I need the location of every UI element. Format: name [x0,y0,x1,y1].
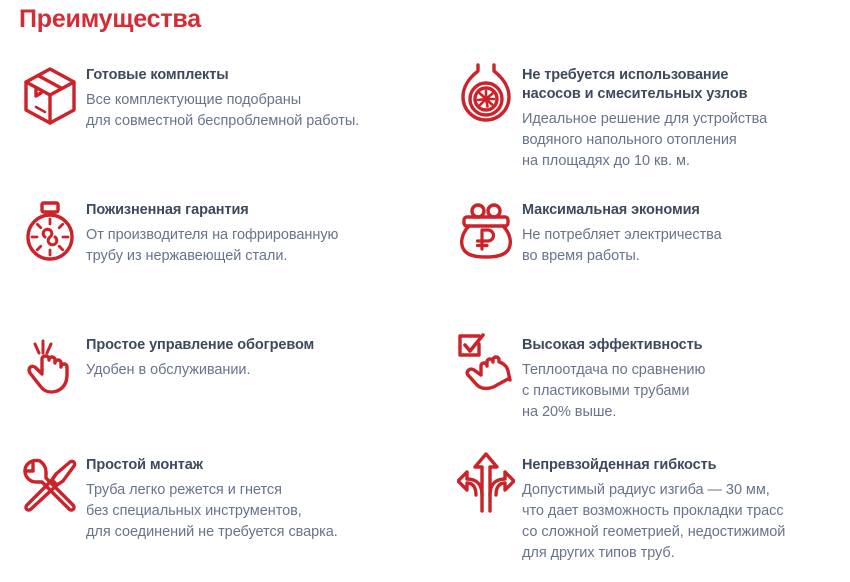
feature-card-flexibility: Непревзойденная гибкость Допустимый ради… [440,442,850,569]
feature-description: Не потребляет электричества во время раб… [522,225,840,267]
feature-title: Готовые комплекты [86,66,430,85]
feature-card-max-savings: Максимальная экономия Не потребляет элек… [440,187,850,322]
feature-card-ready-kits: Готовые комплекты Все комплектующие подо… [0,52,440,187]
box-package-icon [14,60,86,132]
feature-card-no-pumps: Не требуется использование насосов и сме… [440,52,850,187]
feature-card-easy-control: Простое управление обогревом Удобен в об… [0,322,440,442]
feature-title: Максимальная экономия [522,201,840,220]
feature-description: От производителя на гофрированную трубу … [86,225,430,267]
feature-description: Все комплектующие подобраны для совместн… [86,90,430,132]
page-title: Преимущества [19,2,201,36]
feature-description: Удобен в обслуживании. [86,360,430,381]
tap-hand-icon [14,330,86,402]
feature-card-lifetime-warranty: Пожизненная гарантия От производителя на… [0,187,440,322]
feature-text: Максимальная экономия Не потребляет элек… [522,187,840,267]
feature-text: Непревзойденная гибкость Допустимый ради… [522,442,840,564]
feature-title: Непревзойденная гибкость [522,456,840,475]
feature-text: Не требуется использование насосов и сме… [522,52,840,172]
three-way-arrow-icon [450,446,522,518]
feature-description: Теплоотдача по сравнению с пластиковыми … [522,360,840,423]
feature-description: Идеальное решение для устройства водяног… [522,109,840,172]
feature-description: Допустимый радиус изгиба — 30 мм, что да… [522,480,840,564]
stopwatch-infinity-icon [14,195,86,267]
advantages-section: Преимущества Готовые комплекты Все компл… [0,0,850,582]
feature-title: Простой монтаж [86,456,430,475]
feature-card-easy-installation: Простой монтаж Труба легко режется и гне… [0,442,440,569]
checkbox-hand-icon [450,326,522,398]
feature-card-high-efficiency: Высокая эффективность Теплоотдача по сра… [440,322,850,442]
feature-text: Пожизненная гарантия От производителя на… [86,187,430,267]
feature-title: Простое управление обогревом [86,336,430,355]
feature-text: Высокая эффективность Теплоотдача по сра… [522,322,840,423]
wrench-screwdriver-icon [14,450,86,522]
feature-text: Простой монтаж Труба легко режется и гне… [86,442,430,543]
feature-text: Простое управление обогревом Удобен в об… [86,322,430,381]
feature-title: Пожизненная гарантия [86,201,430,220]
pump-impeller-icon [450,56,522,128]
features-grid: Готовые комплекты Все комплектующие подо… [0,52,850,569]
feature-title: Высокая эффективность [522,336,840,355]
purse-ruble-icon [450,195,522,267]
feature-title: Не требуется использование насосов и сме… [522,66,840,104]
feature-description: Труба легко режется и гнется без специал… [86,480,430,543]
feature-text: Готовые комплекты Все комплектующие подо… [86,52,430,132]
